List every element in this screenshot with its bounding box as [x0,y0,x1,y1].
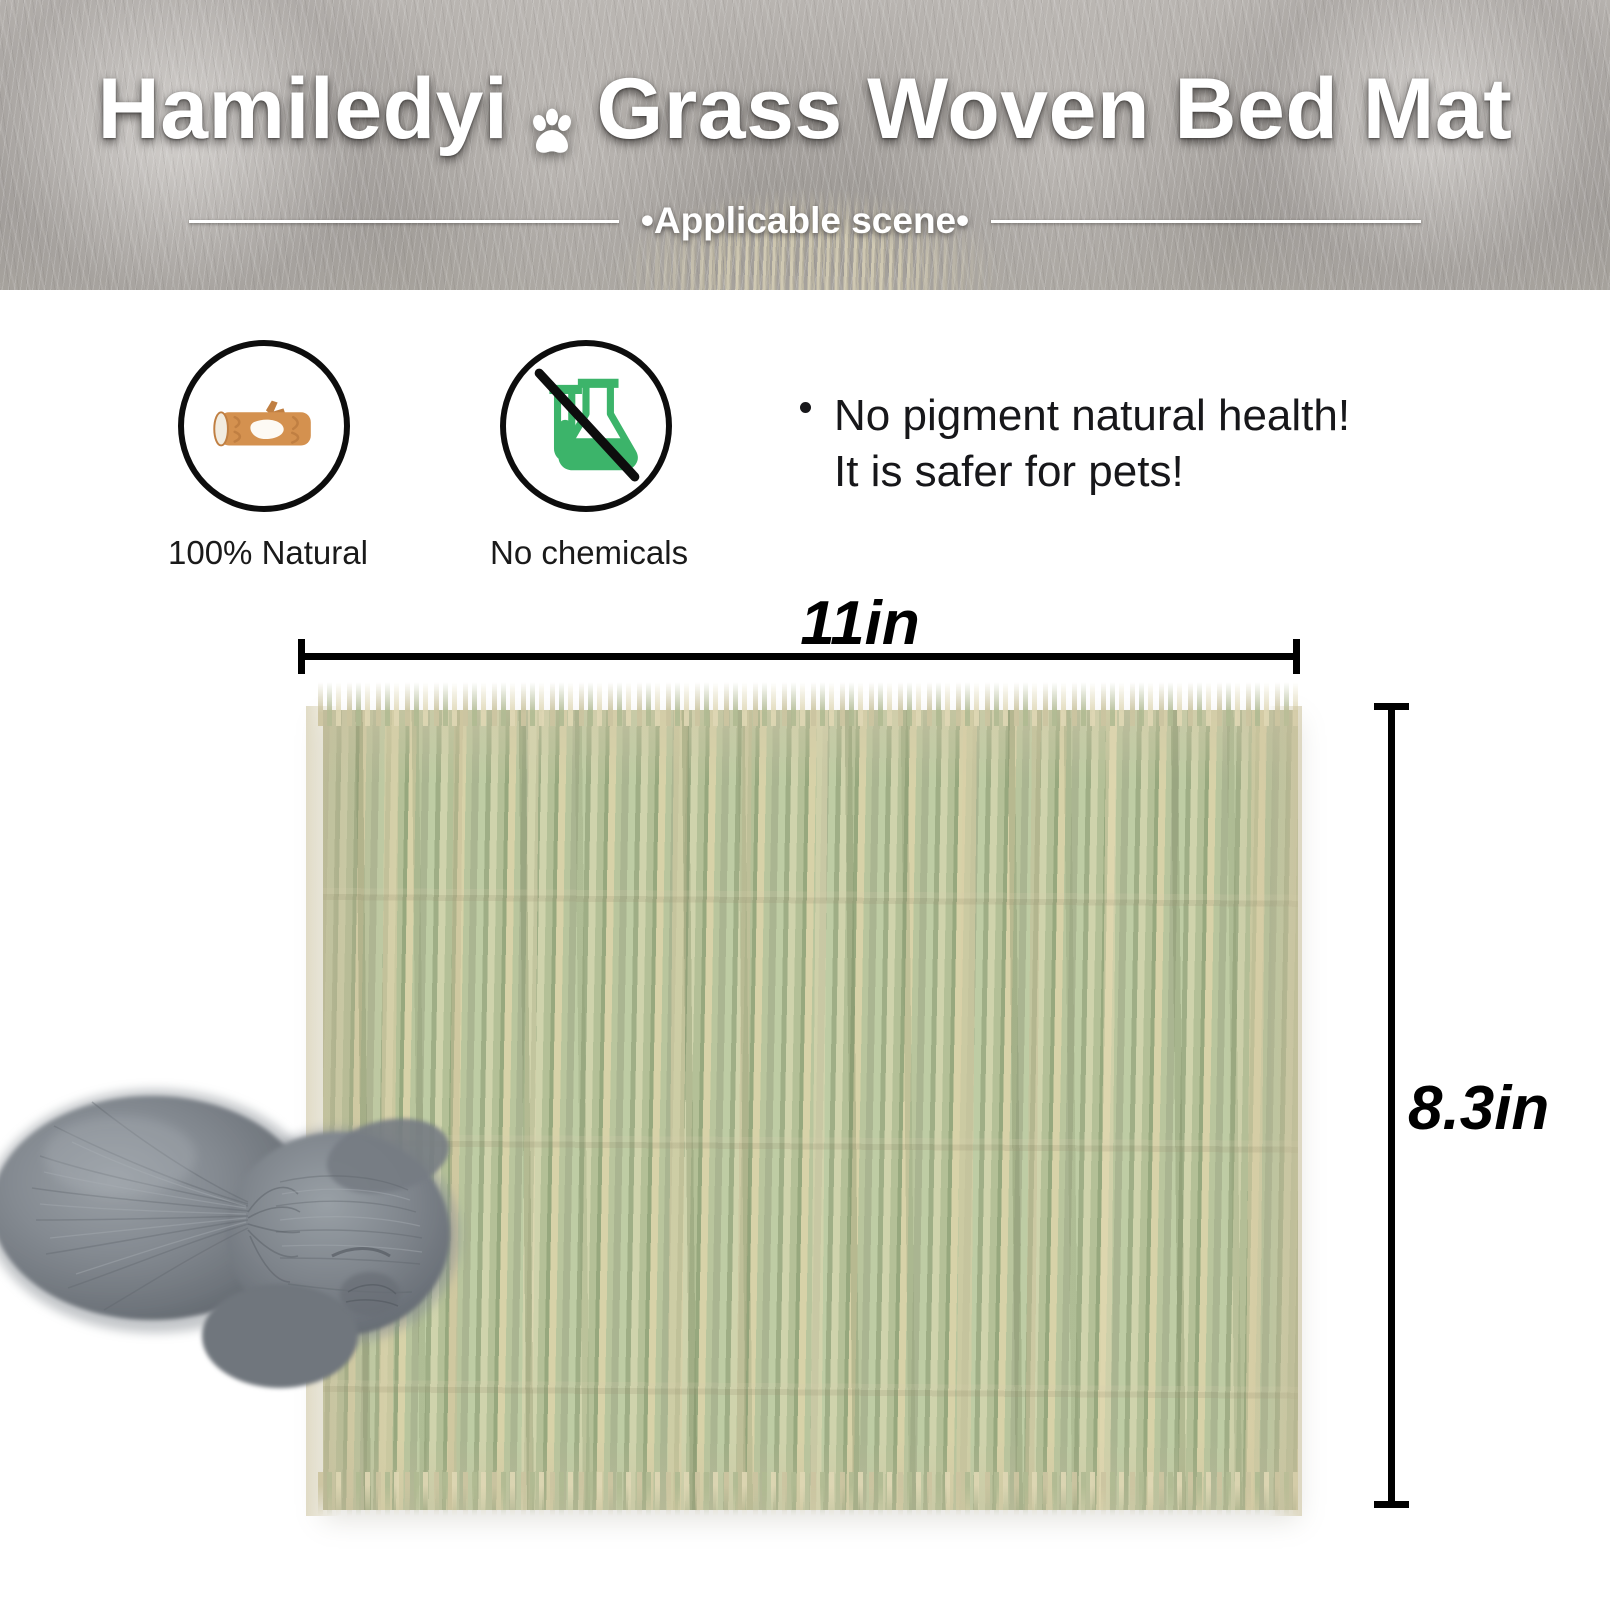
header-banner: Hamiledyi Grass Woven Bed Mat •Applicabl… [0,0,1610,290]
product-infographic: Hamiledyi Grass Woven Bed Mat •Applicabl… [0,0,1610,1610]
badge-natural-label: 100% Natural [168,534,360,572]
mat-fray-bottom-edge [318,1472,1303,1516]
badge-natural-circle [178,340,350,512]
no-chemicals-flask-icon [525,363,647,490]
bullet-line-1: No pigment natural health! [834,388,1500,444]
badge-no-chemicals-circle [500,340,672,512]
grey-rabbit-photo [0,1006,500,1406]
mat-right-edge [1268,706,1302,1516]
applicable-scene-label: •Applicable scene• [641,200,969,242]
page-title: Hamiledyi Grass Woven Bed Mat [0,66,1610,152]
divider-rule-left [189,220,619,223]
badge-no-chemicals: No chemicals [490,340,682,572]
log-icon [205,385,323,468]
applicable-scene-divider: •Applicable scene• [0,200,1610,242]
width-dimension-line [298,653,1300,660]
height-dimension-label: 8.3in [1408,1073,1549,1144]
bullet-dot-icon [800,402,811,413]
height-dimension-line [1388,703,1395,1508]
feature-bullet: No pigment natural health! It is safer f… [800,388,1500,501]
brand-name: Hamiledyi [98,66,509,152]
paw-print-icon [526,87,578,139]
badge-natural: 100% Natural [168,340,360,572]
divider-rule-right [991,220,1421,223]
mat-fray-top-edge [318,682,1303,726]
bullet-line-2: It is safer for pets! [834,444,1500,500]
feature-badges: 100% Natural [168,340,682,572]
product-name: Grass Woven Bed Mat [596,66,1512,152]
badge-no-chemicals-label: No chemicals [490,534,682,572]
width-dimension-label: 11in [700,588,1020,659]
